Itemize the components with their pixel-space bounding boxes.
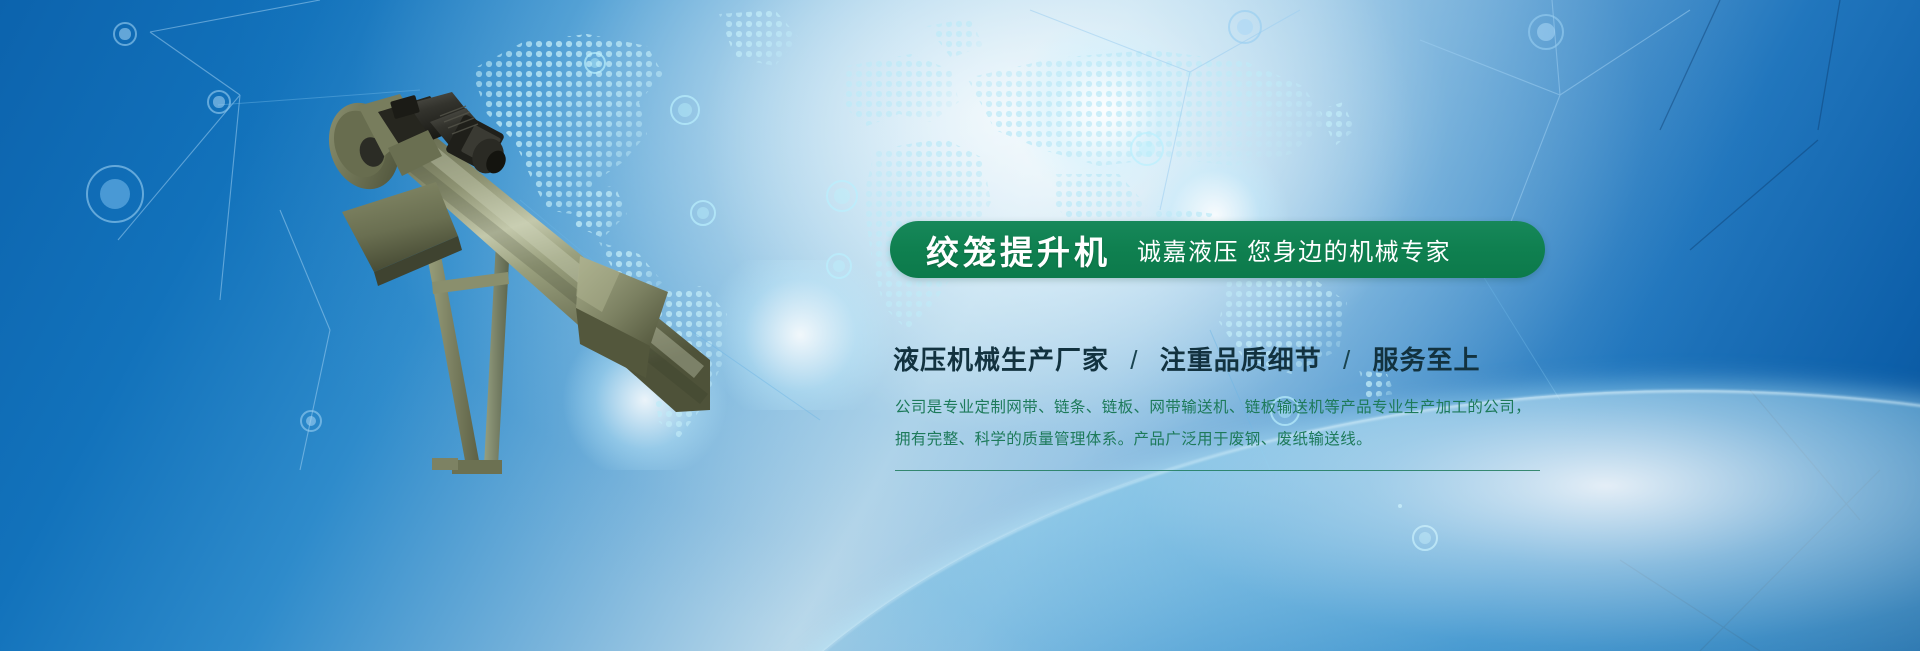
headline-separator-2: /	[1330, 345, 1364, 375]
network-node-14	[1528, 14, 1564, 50]
network-node-13	[1228, 10, 1262, 44]
network-node-8	[826, 180, 858, 212]
headline-part-1: 液压机械生产厂家	[893, 345, 1109, 375]
company-description: 公司是专业定制网带、链条、链板、网带输送机、链板输送机等产品专业生产加工的公司，…	[895, 392, 1535, 456]
hero-banner: 绞笼提升机 诚嘉液压 您身边的机械专家 液压机械生产厂家 / 注重品质细节 / …	[0, 0, 1920, 651]
description-line-1: 公司是专业定制网带、链条、链板、网带输送机、链板输送机等产品专业生产加工的公司，	[895, 392, 1535, 424]
network-node-10	[1130, 132, 1164, 166]
product-slogan: 诚嘉液压 您身边的机械专家	[1137, 232, 1451, 267]
network-node-3	[207, 90, 231, 114]
network-node-1	[86, 165, 144, 223]
machine-support-frame	[426, 242, 510, 474]
description-line-2: 拥有完整、科学的质量管理体系。产品广泛用于废钢、废纸输送线。	[895, 424, 1535, 456]
glow-spot-2	[700, 260, 900, 410]
screw-conveyor-machine-image	[280, 60, 710, 480]
content-divider	[895, 470, 1540, 471]
headline-row: 液压机械生产厂家 / 注重品质细节 / 服务至上	[893, 340, 1480, 377]
network-node-9	[826, 253, 852, 279]
headline-separator-1: /	[1117, 345, 1151, 375]
headline-part-2: 注重品质细节	[1160, 345, 1322, 375]
network-node-15	[1398, 504, 1402, 508]
network-node-2	[113, 22, 137, 46]
glow-spot-1	[1010, 30, 1200, 190]
network-node-12	[1412, 525, 1438, 551]
product-title: 绞笼提升机	[926, 226, 1111, 274]
headline-part-3: 服务至上	[1372, 345, 1480, 375]
product-title-pill: 绞笼提升机 诚嘉液压 您身边的机械专家	[890, 221, 1545, 278]
